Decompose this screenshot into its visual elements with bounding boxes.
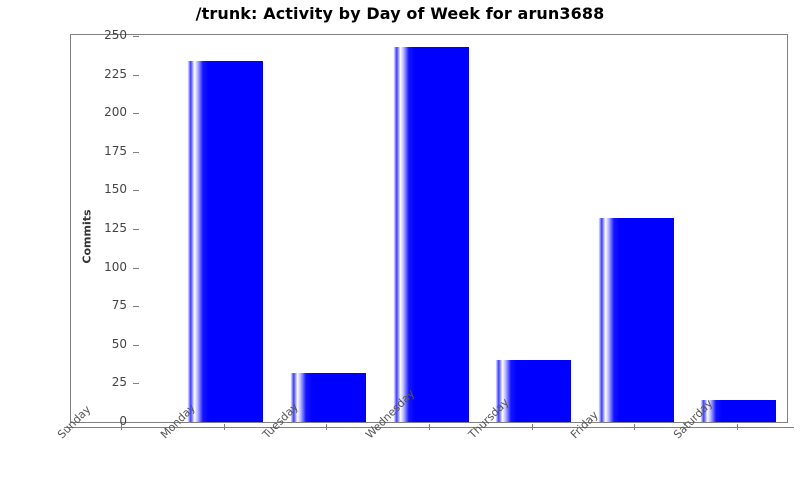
bar-thursday[interactable] — [494, 360, 571, 422]
y-tick-mark — [133, 422, 139, 423]
plot-area: Commits 0255075100125150175200225250 — [70, 34, 788, 423]
x-tick-mark — [429, 424, 430, 430]
x-tick-mark — [224, 424, 225, 430]
bar-slot — [84, 35, 161, 422]
x-tick-mark — [634, 424, 635, 430]
bar-tuesday[interactable] — [289, 373, 366, 422]
x-tick-mark — [532, 424, 533, 430]
x-tick-mark — [121, 424, 122, 430]
bar-slot — [186, 35, 263, 422]
bar-slot — [597, 35, 674, 422]
bar-friday[interactable] — [597, 218, 674, 422]
bar-slot — [699, 35, 776, 422]
bar-slot — [289, 35, 366, 422]
bar-monday[interactable] — [186, 61, 263, 422]
bar-slot — [494, 35, 571, 422]
bar-wednesday[interactable] — [392, 47, 469, 422]
chart-title: /trunk: Activity by Day of Week for arun… — [0, 4, 800, 23]
bar-slot — [392, 35, 469, 422]
x-tick-mark — [737, 424, 738, 430]
x-tick-mark — [326, 424, 327, 430]
chart-container: /trunk: Activity by Day of Week for arun… — [0, 0, 800, 500]
